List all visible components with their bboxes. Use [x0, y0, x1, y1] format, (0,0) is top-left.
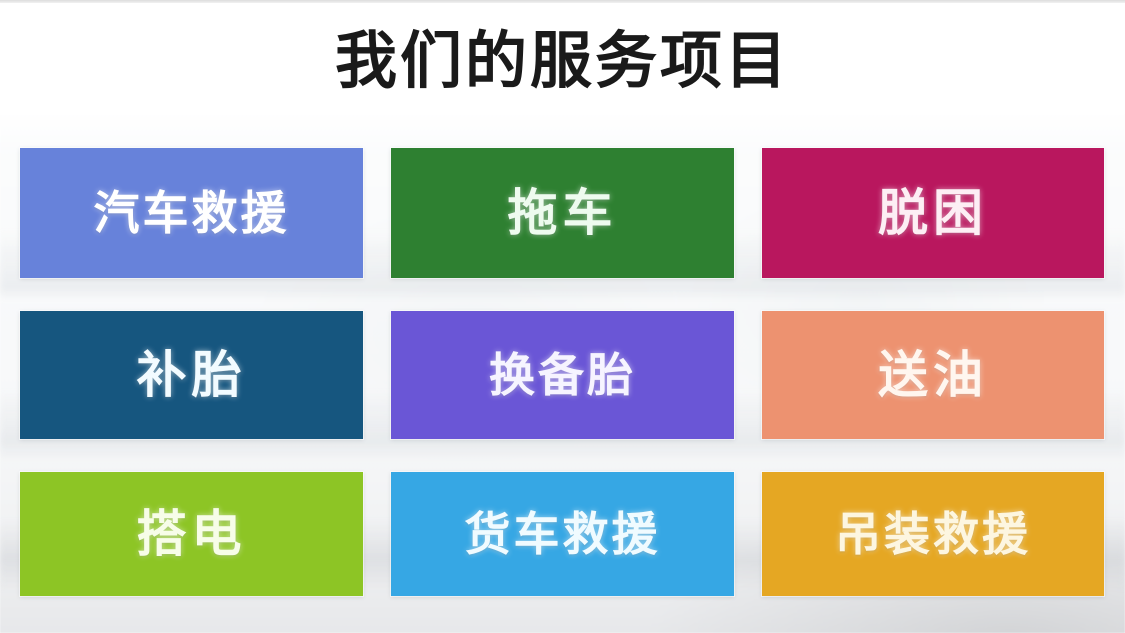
service-tile-extrication[interactable]: 脱困 — [762, 148, 1104, 278]
service-tile-spare-tire-change[interactable]: 换备胎 — [391, 311, 734, 439]
service-tile-label: 汽车救援 — [94, 188, 290, 238]
page-title: 我们的服务项目 — [0, 22, 1125, 100]
service-grid: 汽车救援 拖车 脱困 补胎 换备胎 送油 搭电 货车救援 吊装救援 — [20, 148, 1104, 597]
service-poster: 我们的服务项目 汽车救援 拖车 脱困 补胎 换备胎 送油 搭电 货车救援 吊装救… — [0, 0, 1125, 633]
service-tile-jump-start[interactable]: 搭电 — [20, 472, 363, 596]
service-tile-label: 补胎 — [137, 350, 247, 400]
service-tile-label: 脱困 — [878, 188, 988, 238]
service-tile-label: 拖车 — [508, 188, 618, 238]
service-tile-fuel-delivery[interactable]: 送油 — [762, 311, 1104, 439]
service-tile-label: 换备胎 — [489, 350, 636, 400]
service-tile-label: 搭电 — [137, 509, 247, 559]
top-divider — [0, 0, 1125, 3]
service-tile-truck-rescue[interactable]: 货车救援 — [391, 472, 734, 596]
service-tile-crane-lifting-rescue[interactable]: 吊装救援 — [762, 472, 1104, 596]
service-tile-car-rescue[interactable]: 汽车救援 — [20, 148, 363, 278]
service-tile-towing[interactable]: 拖车 — [391, 148, 734, 278]
service-tile-tire-repair[interactable]: 补胎 — [20, 311, 363, 439]
service-tile-label: 货车救援 — [465, 509, 661, 559]
service-tile-label: 吊装救援 — [835, 509, 1031, 559]
service-tile-label: 送油 — [878, 350, 988, 400]
